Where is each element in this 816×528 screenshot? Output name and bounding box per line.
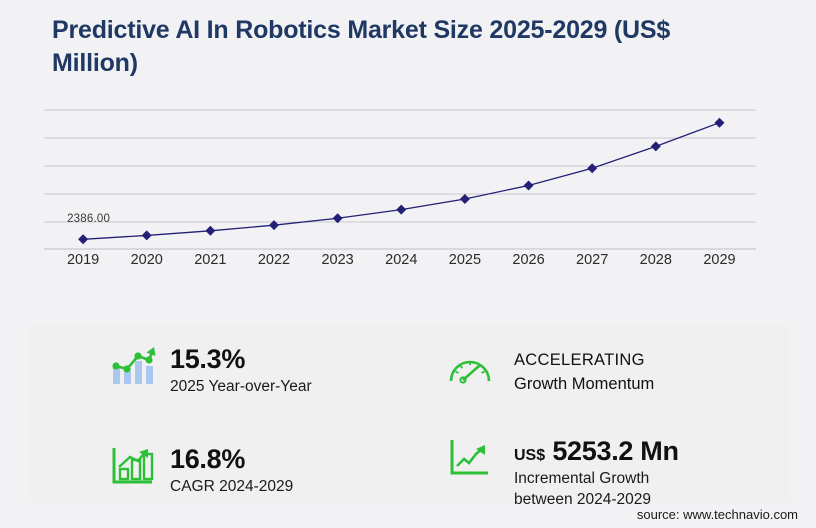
- x-axis-label-2026: 2026: [499, 252, 559, 268]
- x-axis-label-2021: 2021: [180, 252, 240, 268]
- momentum-title: ACCELERATING: [514, 350, 654, 371]
- stat-value-yoy: 15.3%: [170, 345, 312, 373]
- speedometer-icon: [448, 350, 492, 391]
- incremental-caption-line1: Incremental Growth: [514, 469, 679, 489]
- chart-marker: [587, 163, 597, 173]
- chart-markers: [78, 118, 724, 245]
- x-axis-label-2020: 2020: [117, 252, 177, 268]
- chart-marker: [205, 226, 215, 236]
- x-axis-label-2022: 2022: [244, 252, 304, 268]
- stat-caption-yoy: 2025 Year-over-Year: [170, 377, 312, 397]
- line-chart-arrow-up-icon: [448, 437, 492, 484]
- stat-card-cagr: 16.8% CAGR 2024-2029: [110, 445, 293, 497]
- x-axis-label-2027: 2027: [562, 252, 622, 268]
- stat-card-yoy: 15.3% 2025 Year-over-Year: [110, 345, 312, 397]
- stat-card-incremental: US$ 5253.2 Mn Incremental Growth between…: [448, 437, 679, 510]
- x-axis-label-2019: 2019: [53, 252, 113, 268]
- incremental-amount: 5253.2 Mn: [552, 436, 678, 466]
- stat-caption-cagr: CAGR 2024-2029: [170, 477, 293, 497]
- chart-marker: [714, 118, 724, 128]
- chart-marker: [524, 180, 534, 190]
- x-axis-label-2028: 2028: [626, 252, 686, 268]
- x-axis-label-2025: 2025: [435, 252, 495, 268]
- chart-marker: [78, 234, 88, 244]
- chart-marker: [460, 194, 470, 204]
- stat-value-cagr: 16.8%: [170, 445, 293, 473]
- stat-card-momentum: ACCELERATING Growth Momentum: [448, 350, 654, 396]
- bar-chart-arrow-up-outline-icon: [110, 445, 156, 492]
- x-axis-label-2024: 2024: [371, 252, 431, 268]
- stat-value-incremental: US$ 5253.2 Mn: [514, 437, 679, 465]
- source-attribution: source: www.technavio.com: [637, 507, 798, 522]
- chart-marker: [142, 230, 152, 240]
- x-axis-label-2023: 2023: [308, 252, 368, 268]
- momentum-subtitle: Growth Momentum: [514, 374, 654, 395]
- bar-chart-trend-up-icon: [110, 345, 156, 392]
- currency-prefix: US$: [514, 447, 545, 464]
- first-point-data-label: 2386.00: [67, 213, 110, 225]
- chart-gridlines: [44, 110, 756, 249]
- chart-marker: [396, 205, 406, 215]
- chart-marker: [651, 141, 661, 151]
- x-axis-label-2029: 2029: [689, 252, 749, 268]
- page-title: Predictive AI In Robotics Market Size 20…: [52, 14, 752, 80]
- chart-x-axis-labels: 2019202020212022202320242025202620272028…: [0, 252, 816, 276]
